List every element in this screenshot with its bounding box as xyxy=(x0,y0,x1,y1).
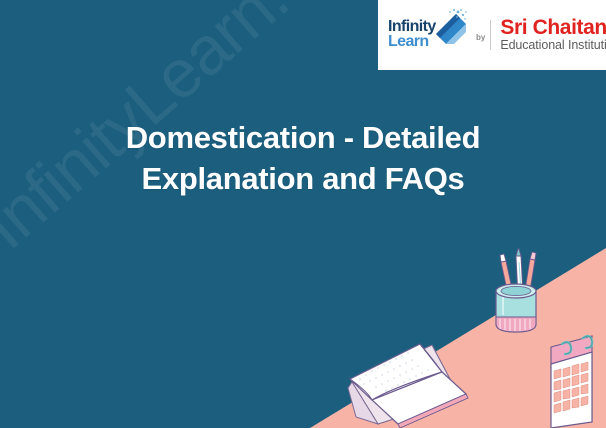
logo-divider xyxy=(490,20,491,50)
by-connector: by xyxy=(474,14,495,56)
brand-logo-box[interactable]: Infinity Learn by Sri Chaitanya Edu xyxy=(378,0,606,70)
sri-chaitanya-logo[interactable]: Sri Chaitanya Educational Institutions xyxy=(495,17,606,52)
infinity-arrow-icon xyxy=(430,8,472,48)
by-label: by xyxy=(476,33,485,42)
infinity-learn-wordmark: Infinity Learn xyxy=(388,20,436,49)
partner-tagline: Educational Institutions xyxy=(500,39,606,52)
partner-name: Sri Chaitanya xyxy=(500,17,606,39)
infinity-learn-logo[interactable]: Infinity Learn xyxy=(386,6,474,64)
brand-word-learn: Learn xyxy=(388,35,436,50)
page-title: Domestication - Detailed Explanation and… xyxy=(0,118,606,200)
course-banner: InfinityLearn.com xyxy=(0,0,606,428)
